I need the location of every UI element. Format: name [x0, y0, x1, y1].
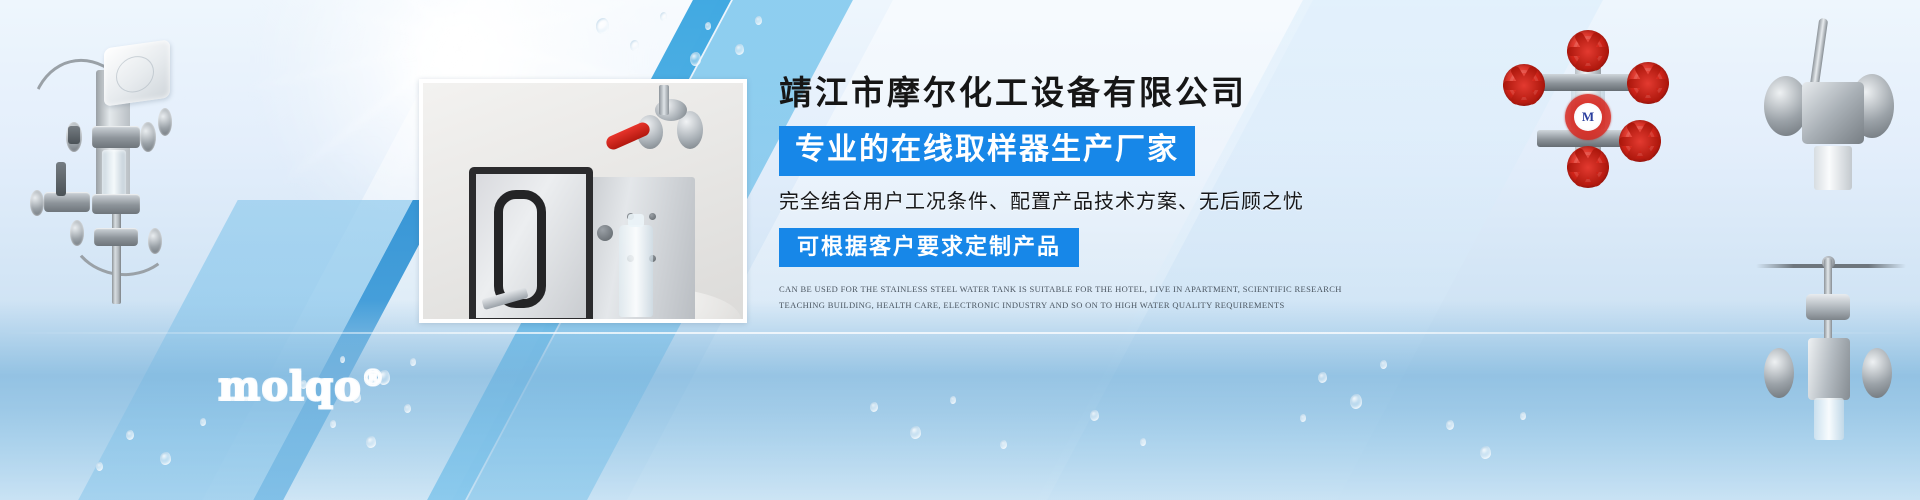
- water-droplet: [1446, 420, 1454, 430]
- top-valve-assembly: [633, 89, 709, 175]
- knob-1: [68, 126, 80, 144]
- water-droplet: [160, 452, 171, 465]
- water-droplet: [1350, 394, 1362, 409]
- handwheel-left: [1503, 64, 1545, 106]
- water-droplet: [410, 358, 416, 366]
- subline-text: 完全结合用户工况条件、配置产品技术方案、无后顾之忧: [779, 190, 1399, 215]
- water-droplet: [950, 396, 956, 404]
- water-droplet: [690, 52, 701, 66]
- product-image-sampling-rig: [8, 22, 178, 302]
- valve-hub-2: [92, 194, 140, 214]
- brand-seal-icon: M: [1565, 94, 1611, 140]
- water-droplet: [1480, 446, 1491, 459]
- handwheel-bottom: [1567, 146, 1609, 188]
- photo-inner: [423, 83, 743, 319]
- sample-bottle: [619, 225, 653, 317]
- company-name: 靖江市摩尔化工设备有限公司: [779, 74, 1399, 112]
- copy-block: 靖江市摩尔化工设备有限公司 专业的在线取样器生产厂家 完全结合用户工况条件、配置…: [779, 74, 1399, 314]
- watermark-text: molqo: [218, 363, 362, 410]
- handwheel-lower-right: [1619, 120, 1661, 162]
- gate-sample-glass: [1814, 398, 1844, 440]
- valve-stem: [659, 85, 669, 115]
- flange-3: [158, 108, 172, 136]
- gate-flange-left: [1764, 348, 1794, 398]
- flange-5: [70, 220, 84, 246]
- product-image-valve-cluster: M: [1497, 36, 1683, 166]
- water-droplet: [910, 426, 921, 439]
- flange-2: [140, 122, 156, 152]
- cabinet-screw-2: [649, 213, 656, 220]
- relief-stem: [56, 162, 66, 196]
- water-droplet: [596, 18, 609, 34]
- gate-valve-body: [1808, 338, 1850, 400]
- flange-6: [148, 228, 162, 254]
- valve-hub-3: [94, 228, 138, 246]
- tagline-badge: 可根据客户要求定制产品: [779, 228, 1079, 267]
- water-droplet: [1520, 412, 1526, 420]
- water-droplet: [404, 404, 411, 413]
- water-droplet: [1000, 440, 1007, 449]
- water-droplet: [735, 44, 744, 55]
- brand-seal-letter: M: [1574, 103, 1602, 131]
- lever-valve-outlet: [1814, 146, 1852, 190]
- water-droplet: [366, 436, 376, 448]
- valve-hub-1: [92, 126, 140, 148]
- water-droplet: [126, 430, 134, 440]
- product-image-lever-valve: [1758, 26, 1908, 194]
- headline-badge: 专业的在线取样器生产厂家: [779, 126, 1195, 176]
- water-droplet: [1300, 414, 1306, 422]
- gate-bonnet: [1806, 294, 1850, 320]
- water-droplet: [340, 356, 345, 363]
- water-droplet: [96, 462, 103, 471]
- water-droplet: [630, 40, 639, 51]
- water-droplet: [1090, 410, 1099, 421]
- water-droplet: [330, 420, 336, 428]
- gate-flange-right: [1862, 348, 1892, 398]
- water-droplet: [200, 418, 206, 426]
- water-droplet: [660, 12, 667, 21]
- controller-enclosure: [104, 39, 170, 106]
- handwheel-top: [1567, 30, 1609, 72]
- cabinet-door: [469, 167, 593, 319]
- water-droplet: [870, 402, 878, 412]
- water-droplet: [1140, 438, 1146, 446]
- water-droplet: [705, 22, 711, 30]
- handwheel-right: [1627, 62, 1669, 104]
- water-droplet: [1318, 372, 1327, 383]
- watermark-logo: molqo®: [218, 363, 385, 410]
- sight-glass: [102, 150, 126, 198]
- watermark-registered-mark: ®: [362, 366, 385, 392]
- flange-4: [30, 190, 44, 216]
- english-description: CAN BE USED FOR THE STAINLESS STEEL WATE…: [779, 281, 1389, 314]
- product-image-gate-valve: [1758, 252, 1908, 452]
- relief-assembly: [44, 192, 90, 212]
- hero-banner: M 靖江市摩尔化工设备有限公司 专业的在线取样器生产厂家 完全结合用户工况条件、…: [0, 0, 1920, 500]
- lever-valve-body: [1802, 82, 1864, 144]
- horizon-line: [0, 332, 1920, 334]
- cabinet-port: [597, 225, 613, 241]
- water-droplet: [1380, 360, 1387, 369]
- product-photo-sampling-cabinet: [419, 79, 747, 323]
- water-droplet: [755, 16, 762, 25]
